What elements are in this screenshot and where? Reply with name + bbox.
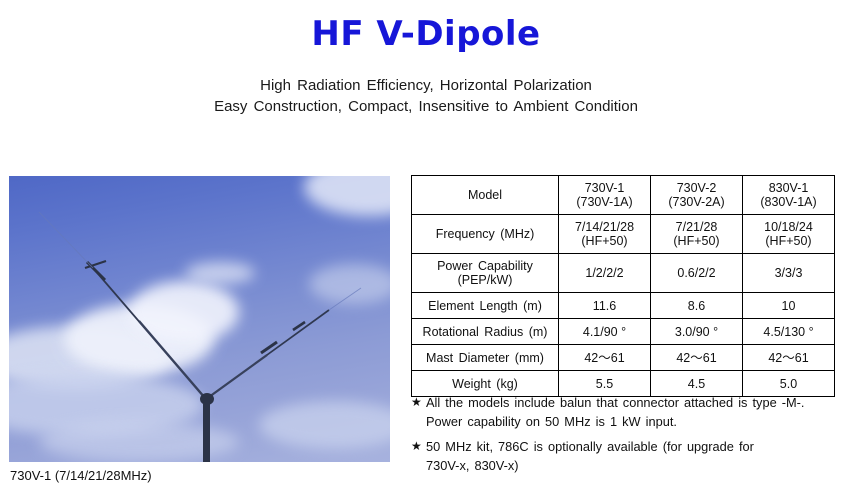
- table-cell: 7/14/21/28 (HF+50): [559, 215, 651, 254]
- star-bullet-icon: ★: [411, 437, 422, 456]
- row-label-element-length: Element Length (m): [412, 293, 559, 319]
- antenna-photo-figure: [9, 176, 390, 462]
- cell-value: 10/18/24: [764, 220, 813, 234]
- table-header-col-2: 730V-2 (730V-2A): [651, 176, 743, 215]
- model-alt-name: (730V-2A): [653, 195, 740, 209]
- table-cell: 42〜61: [743, 345, 835, 371]
- footnote-item: ★ 50 MHz kit, 786C is optionally availab…: [411, 437, 841, 475]
- model-name: 730V-1: [585, 181, 625, 195]
- table-cell: 42〜61: [651, 345, 743, 371]
- table-header-col-3: 830V-1 (830V-1A): [743, 176, 835, 215]
- row-label-subtext: (PEP/kW): [414, 273, 556, 287]
- model-alt-name: (830V-1A): [745, 195, 832, 209]
- table-cell: 10/18/24 (HF+50): [743, 215, 835, 254]
- table-row: Rotational Radius (m) 4.1/90 ° 3.0/90 ° …: [412, 319, 835, 345]
- footnote-line: 730V-x, 830V-x): [426, 456, 841, 475]
- footnote-line: Power capability on 50 MHz is 1 kW input…: [426, 412, 841, 431]
- table-row: Element Length (m) 11.6 8.6 10: [412, 293, 835, 319]
- table-cell: 4.1/90 °: [559, 319, 651, 345]
- subtitle-block: High Radiation Efficiency, Horizontal Po…: [0, 75, 852, 117]
- cell-subvalue: (HF+50): [745, 234, 832, 248]
- row-label-text: Power Capability: [437, 259, 533, 273]
- table-cell: 10: [743, 293, 835, 319]
- table-row: Frequency (MHz) 7/14/21/28 (HF+50) 7/21/…: [412, 215, 835, 254]
- row-label-rotational-radius: Rotational Radius (m): [412, 319, 559, 345]
- specifications-table: Model 730V-1 (730V-1A) 730V-2 (730V-2A) …: [411, 175, 835, 397]
- table-cell: 7/21/28 (HF+50): [651, 215, 743, 254]
- cell-subvalue: (HF+50): [561, 234, 648, 248]
- table-cell: 4.5/130 °: [743, 319, 835, 345]
- table-cell: 1/2/2/2: [559, 254, 651, 293]
- table-cell: 8.6: [651, 293, 743, 319]
- row-label-frequency: Frequency (MHz): [412, 215, 559, 254]
- model-alt-name: (730V-1A): [561, 195, 648, 209]
- antenna-photo-image: [9, 176, 390, 462]
- table-cell: 3/3/3: [743, 254, 835, 293]
- table-row-model: Model 730V-1 (730V-1A) 730V-2 (730V-2A) …: [412, 176, 835, 215]
- cell-value: 7/21/28: [676, 220, 718, 234]
- subtitle-line-2: Easy Construction, Compact, Insensitive …: [0, 96, 852, 117]
- table-row: Mast Diameter (mm) 42〜61 42〜61 42〜61: [412, 345, 835, 371]
- footnote-line: 50 MHz kit, 786C is optionally available…: [426, 437, 841, 456]
- table-cell: 42〜61: [559, 345, 651, 371]
- cell-subvalue: (HF+50): [653, 234, 740, 248]
- photo-caption: 730V-1 (7/14/21/28MHz): [10, 468, 152, 483]
- table-cell: 3.0/90 °: [651, 319, 743, 345]
- footnote-line: All the models include balun that connec…: [426, 393, 841, 412]
- table-cell: 0.6/2/2: [651, 254, 743, 293]
- table-cell: 11.6: [559, 293, 651, 319]
- row-label-power-capability: Power Capability (PEP/kW): [412, 254, 559, 293]
- row-label-mast-diameter: Mast Diameter (mm): [412, 345, 559, 371]
- table-row: Power Capability (PEP/kW) 1/2/2/2 0.6/2/…: [412, 254, 835, 293]
- antenna-structure-icon: [9, 176, 390, 462]
- table-header-model: Model: [412, 176, 559, 215]
- cell-value: 7/14/21/28: [575, 220, 634, 234]
- table-header-col-1: 730V-1 (730V-1A): [559, 176, 651, 215]
- model-name: 730V-2: [677, 181, 717, 195]
- star-bullet-icon: ★: [411, 393, 422, 412]
- footnote-item: ★ All the models include balun that conn…: [411, 393, 841, 431]
- footnotes-block: ★ All the models include balun that conn…: [411, 393, 841, 481]
- model-name: 830V-1: [769, 181, 809, 195]
- page-title: HF V-Dipole: [0, 14, 852, 54]
- subtitle-line-1: High Radiation Efficiency, Horizontal Po…: [0, 75, 852, 96]
